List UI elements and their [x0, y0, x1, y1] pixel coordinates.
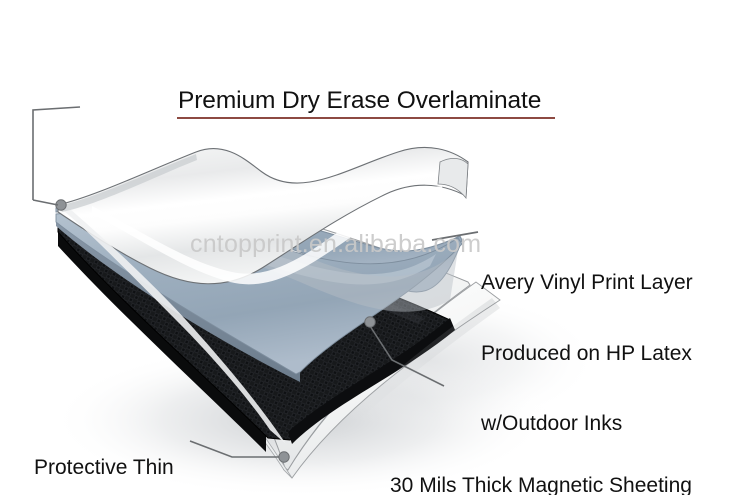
- page-title: Premium Dry Erase Overlaminate: [178, 87, 541, 114]
- callout-magnetic-line-1: 30 Mils Thick Magnetic Sheeting: [390, 474, 692, 495]
- callout-vinyl-line-2: Produced on HP Latex: [481, 342, 693, 366]
- callout-vinyl-line-1: Avery Vinyl Print Layer: [481, 271, 693, 295]
- leader-dot-coating: [279, 452, 289, 462]
- leader-overlaminate: [33, 107, 80, 210]
- title-underline: [177, 117, 555, 119]
- callout-magnetic-label: 30 Mils Thick Magnetic Sheeting From USA…: [390, 427, 692, 495]
- callout-coating-line-1: Protective Thin: [34, 456, 174, 480]
- callout-coating-label: Protective Thin Clear Coating: [34, 409, 174, 495]
- leader-dot-magnetic: [365, 317, 375, 327]
- layered-material-diagram: Premium Dry Erase Overlaminate Avery Vin…: [0, 0, 750, 495]
